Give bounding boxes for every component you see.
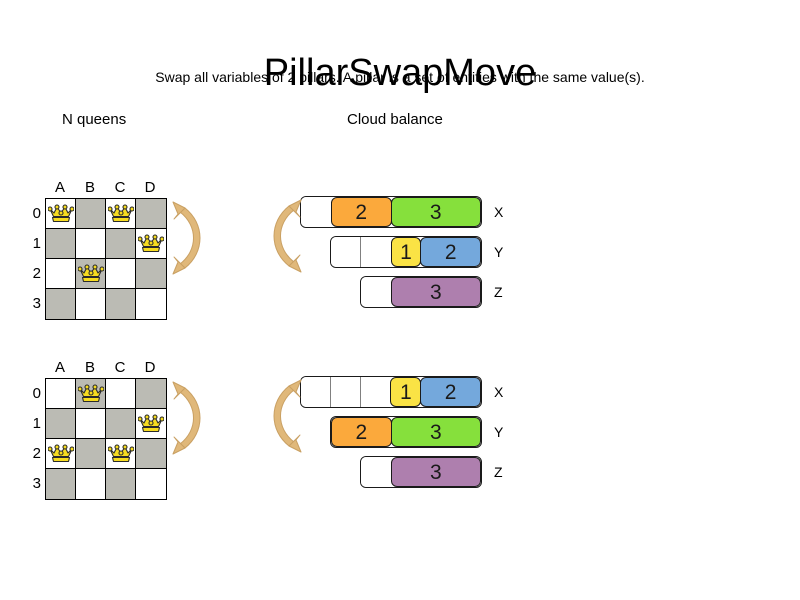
board-row-label: 3 — [25, 296, 41, 312]
cloud-bar-empty-slot — [361, 457, 391, 487]
page-subtitle: Swap all variables of 2 pillars. A pilla… — [0, 68, 800, 86]
swap-arrow-icon — [268, 376, 306, 461]
board-cell[interactable] — [106, 229, 136, 259]
chessboard-grid — [45, 378, 167, 500]
cloud-process-value: 2 — [445, 382, 457, 403]
queen-icon — [108, 443, 134, 465]
board-cell[interactable] — [106, 469, 136, 499]
swap-arrow-icon — [268, 196, 306, 276]
board-row — [46, 409, 166, 439]
cloud-process-value: 3 — [430, 462, 442, 483]
board-row-label: 3 — [25, 476, 41, 492]
board-cell[interactable] — [106, 259, 136, 289]
board-row-label: 2 — [25, 446, 41, 462]
cloud-process-block[interactable]: 2 — [331, 417, 392, 447]
chessboard-grid — [45, 198, 167, 320]
cloud-computer-bar[interactable]: 23 — [330, 416, 482, 448]
cloud-bar-empty-slot — [361, 237, 391, 267]
swap-arrow-icon — [268, 376, 306, 456]
board-column-label: B — [75, 180, 105, 196]
board-cell[interactable] — [46, 229, 76, 259]
board-cell[interactable] — [46, 199, 76, 229]
board-cell[interactable] — [76, 379, 106, 409]
cloud-process-block[interactable]: 3 — [391, 457, 481, 487]
swap-arrow-icon — [168, 198, 206, 283]
swap-arrow-icon — [268, 196, 306, 281]
board-row — [46, 259, 166, 289]
cloud-computer-label: X — [494, 384, 503, 400]
cloud-computer-label: Z — [494, 464, 503, 480]
board-row — [46, 379, 166, 409]
board-cell[interactable] — [106, 409, 136, 439]
board-cell[interactable] — [76, 199, 106, 229]
cloud-computer-bar[interactable]: 3 — [360, 456, 482, 488]
board-row — [46, 199, 166, 229]
board-row — [46, 469, 166, 499]
board-row-label: 1 — [25, 236, 41, 252]
board-cell[interactable] — [76, 259, 106, 289]
cloud-computer-label: X — [494, 204, 503, 220]
queen-icon — [48, 203, 74, 225]
board-row-label: 0 — [25, 206, 41, 222]
cloud-computer-bar[interactable]: 23 — [300, 196, 482, 228]
board-cell[interactable] — [136, 229, 166, 259]
board-row-label: 2 — [25, 266, 41, 282]
cloud-bar-empty-slot — [331, 237, 361, 267]
swap-arrow-icon — [168, 198, 206, 278]
board-cell[interactable] — [136, 199, 166, 229]
board-cell[interactable] — [76, 289, 106, 319]
cloud-process-block[interactable]: 2 — [420, 237, 481, 267]
cloud-process-value: 3 — [430, 422, 442, 443]
board-cell[interactable] — [136, 409, 166, 439]
queen-icon — [138, 413, 164, 435]
cloud-process-block[interactable]: 1 — [391, 237, 422, 267]
board-cell[interactable] — [106, 199, 136, 229]
board-row — [46, 229, 166, 259]
cloud-computer-bar[interactable]: 12 — [300, 376, 482, 408]
cloud-computer-label: Y — [494, 244, 503, 260]
board-cell[interactable] — [46, 379, 76, 409]
cloud-process-value: 3 — [430, 202, 442, 223]
board-row-label: 1 — [25, 416, 41, 432]
swap-arrow-icon — [168, 378, 206, 458]
cloud-process-block[interactable]: 2 — [331, 197, 392, 227]
board-cell[interactable] — [76, 229, 106, 259]
board-column-label: A — [45, 180, 75, 196]
board-column-label: D — [135, 360, 165, 376]
board-row — [46, 439, 166, 469]
cloud-bar-empty-slot — [361, 277, 391, 307]
queen-icon — [48, 443, 74, 465]
board-cell[interactable] — [136, 289, 166, 319]
cloud-process-block[interactable]: 3 — [391, 277, 481, 307]
board-cell[interactable] — [46, 469, 76, 499]
cloud-bar-empty-slot — [331, 377, 361, 407]
cloud-computer-bar[interactable]: 12 — [330, 236, 482, 268]
cloud-process-block[interactable]: 2 — [420, 377, 481, 407]
cloud-bar-empty-slot — [361, 377, 391, 407]
board-column-label: C — [105, 360, 135, 376]
cloud-process-value: 2 — [445, 242, 457, 263]
board-cell[interactable] — [46, 289, 76, 319]
queen-icon — [78, 263, 104, 285]
cloud-computer-label: Z — [494, 284, 503, 300]
board-cell[interactable] — [136, 259, 166, 289]
cloud-process-value: 2 — [355, 422, 367, 443]
cloud-process-block[interactable]: 3 — [391, 417, 481, 447]
board-cell[interactable] — [46, 439, 76, 469]
board-cell[interactable] — [76, 409, 106, 439]
board-cell[interactable] — [106, 439, 136, 469]
board-cell[interactable] — [76, 469, 106, 499]
board-column-label: A — [45, 360, 75, 376]
board-cell[interactable] — [46, 259, 76, 289]
board-row — [46, 289, 166, 319]
board-cell[interactable] — [106, 379, 136, 409]
section-title-cloud: Cloud balance — [347, 111, 443, 129]
cloud-process-value: 3 — [430, 282, 442, 303]
board-cell[interactable] — [136, 379, 166, 409]
board-column-label: B — [75, 360, 105, 376]
section-title-nqueens: N queens — [62, 111, 126, 129]
board-column-label: C — [105, 180, 135, 196]
swap-arrow-icon — [168, 378, 206, 463]
board-cell[interactable] — [46, 409, 76, 439]
cloud-process-block[interactable]: 3 — [391, 197, 482, 227]
board-column-label: D — [135, 180, 165, 196]
board-cell[interactable] — [136, 439, 166, 469]
cloud-process-value: 1 — [400, 382, 412, 403]
cloud-computer-bar[interactable]: 3 — [360, 276, 482, 308]
board-row-label: 0 — [25, 386, 41, 402]
queen-icon — [138, 233, 164, 255]
cloud-process-value: 1 — [400, 242, 412, 263]
cloud-process-block[interactable]: 1 — [390, 377, 421, 407]
board-cell[interactable] — [76, 439, 106, 469]
cloud-process-value: 2 — [355, 202, 367, 223]
board-cell[interactable] — [106, 289, 136, 319]
board-cell[interactable] — [136, 469, 166, 499]
cloud-computer-label: Y — [494, 424, 503, 440]
queen-icon — [108, 203, 134, 225]
queen-icon — [78, 383, 104, 405]
